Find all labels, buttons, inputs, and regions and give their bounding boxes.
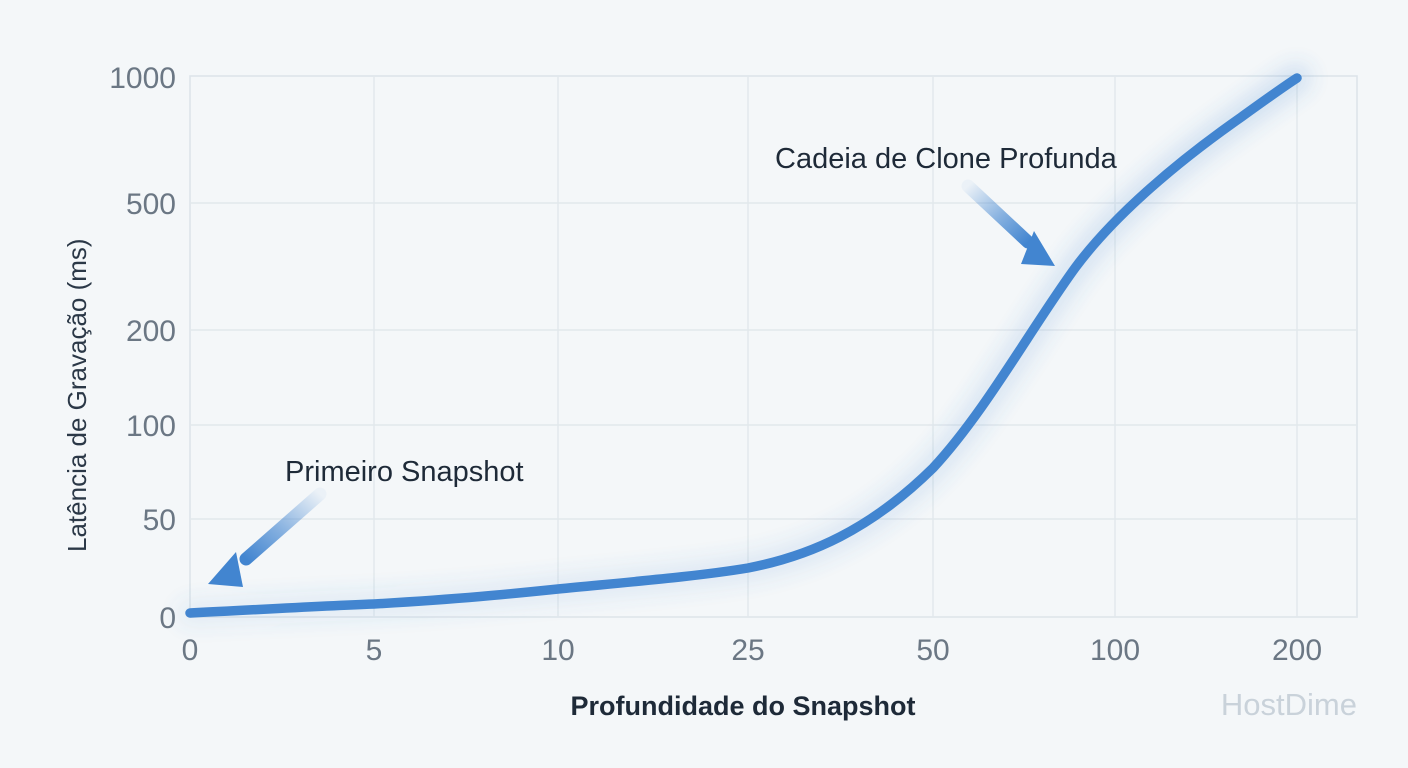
chart-background	[0, 0, 1408, 768]
chart-container: 1000 500 200 100 50 0 0 5 10 25 50 100 2…	[0, 0, 1408, 768]
x-tick-100: 100	[1090, 634, 1140, 667]
x-axis-title: Profundidade do Snapshot	[571, 691, 916, 721]
x-tick-25: 25	[731, 634, 764, 667]
y-tick-0: 0	[159, 602, 176, 635]
x-tick-10: 10	[541, 634, 574, 667]
x-tick-0: 0	[182, 634, 199, 667]
y-tick-200: 200	[126, 315, 176, 348]
y-tick-1000: 1000	[109, 62, 176, 95]
hostdime-watermark: HostDime	[1221, 687, 1357, 722]
x-tick-5: 5	[366, 634, 383, 667]
y-tick-50: 50	[143, 504, 176, 537]
line-chart: 1000 500 200 100 50 0 0 5 10 25 50 100 2…	[0, 0, 1408, 768]
annotation-cadeia-de-clone-profunda-label: Cadeia de Clone Profunda	[775, 143, 1118, 175]
x-tick-50: 50	[916, 634, 949, 667]
annotation-primeiro-snapshot-label: Primeiro Snapshot	[285, 456, 524, 488]
y-tick-100: 100	[126, 410, 176, 443]
y-tick-500: 500	[126, 188, 176, 221]
x-tick-200: 200	[1272, 634, 1322, 667]
y-axis-title: Latência de Gravação (ms)	[62, 238, 92, 552]
